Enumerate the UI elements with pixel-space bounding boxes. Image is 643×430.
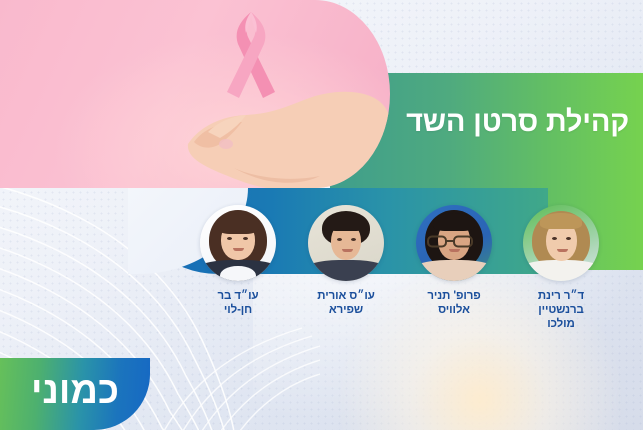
person-name-line: חן-לוי (182, 303, 294, 317)
open-hand-icon (180, 82, 390, 188)
person-name: פרופ' תניר אלוויס (398, 289, 510, 317)
person-name-line: אלוויס (398, 303, 510, 317)
person-name-line: פרופ' תניר (398, 289, 510, 303)
person-name: עו״ס אורית שפירא (290, 289, 402, 317)
avatar (416, 205, 492, 281)
hero-photo-panel (0, 0, 390, 188)
person-name-line: עו״ס אורית (290, 289, 402, 303)
kamoni-logo-badge[interactable]: כמוני (0, 358, 150, 430)
person-card[interactable]: עו״ד בר חן-לוי (182, 205, 294, 317)
avatar (523, 205, 599, 281)
person-name-line: ד״ר רינת (505, 289, 617, 303)
person-name-line: מולכו (505, 317, 617, 331)
person-card[interactable]: פרופ' תניר אלוויס (398, 205, 510, 317)
person-name-line: ברנשטיין (505, 303, 617, 317)
person-name-line: שפירא (290, 303, 402, 317)
avatar (200, 205, 276, 281)
person-name-line: עו״ד בר (182, 289, 294, 303)
eyeglasses-icon (427, 235, 473, 248)
person-name: ד״ר רינת ברנשטיין מולכו (505, 289, 617, 331)
page-title: קהילת סרטן השד (389, 107, 629, 138)
person-card[interactable]: עו״ס אורית שפירא (290, 205, 402, 317)
people-row: עו״ד בר חן-לוי עו״ס אורית שפירא (0, 205, 643, 355)
kamoni-logo-text: כמוני (0, 358, 150, 430)
person-name: עו״ד בר חן-לוי (182, 289, 294, 317)
person-card[interactable]: ד״ר רינת ברנשטיין מולכו (505, 205, 617, 331)
banner-stage: קהילת סרטן השד (0, 0, 643, 430)
avatar (308, 205, 384, 281)
